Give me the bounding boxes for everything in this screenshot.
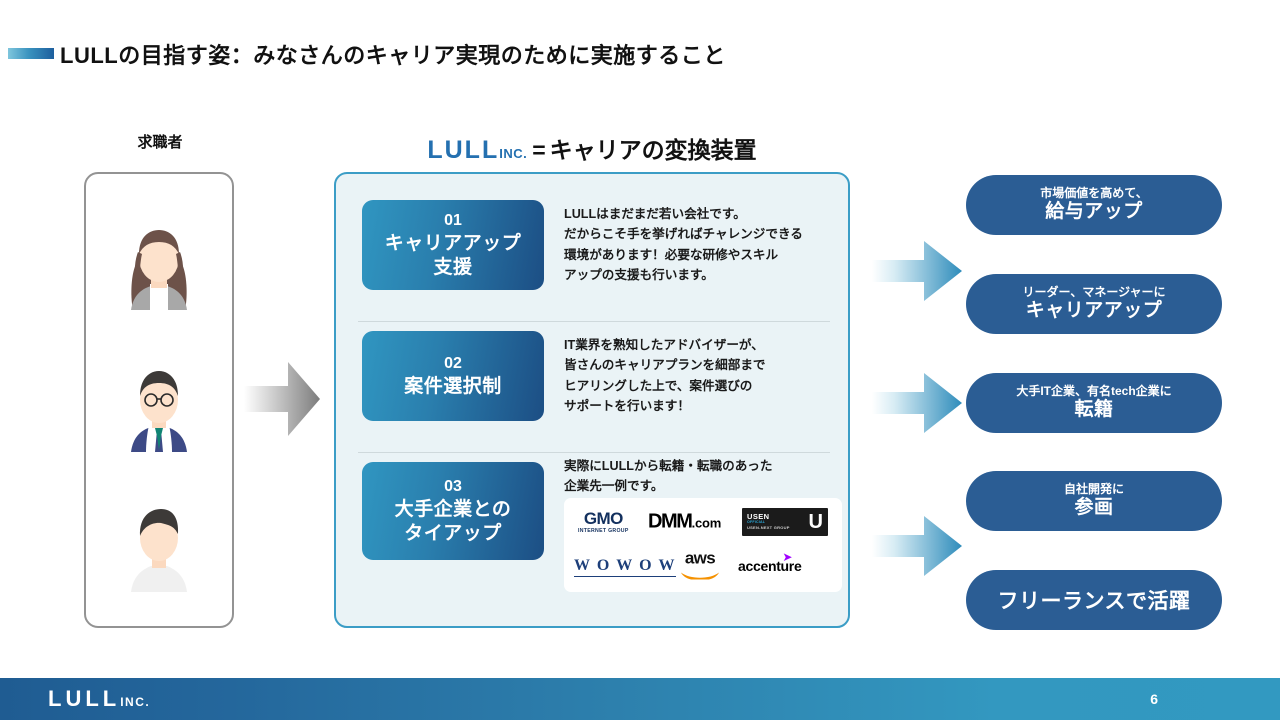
partner-logo-row-2: W O W O W aws ➤ accenture: [564, 543, 842, 590]
arrow-right-blue-1-icon: [872, 238, 962, 304]
aws-logo-icon: aws: [680, 549, 720, 584]
dmm-logo-icon: DMM.com: [648, 510, 721, 533]
center-brand: LULL: [427, 136, 499, 164]
avatar-man-glasses-suit-icon: [111, 352, 207, 472]
job-seeker-box: [84, 172, 234, 628]
feature-description-02: IT業界を熟知したアドバイザーが、 皆さんのキャリアプランを細部まで ヒアリング…: [564, 335, 836, 417]
outcome-pill-4-main: 参画: [1074, 497, 1113, 520]
feature-number-02: 02: [444, 353, 462, 375]
outcome-pill-2[interactable]: リーダー、マネージャーに キャリアアップ: [966, 274, 1222, 334]
arrow-right-blue-3-icon: [872, 513, 962, 579]
outcome-pill-1-main: 給与アップ: [1045, 201, 1143, 224]
gmo-logo-sub: INTERNET GROUP: [578, 528, 629, 534]
outcome-pill-3-main: 転籍: [1074, 399, 1113, 422]
center-phrase: キャリアの変換装置: [550, 137, 757, 163]
outcome-pill-2-sub: リーダー、マネージャーに: [1022, 285, 1165, 300]
outcome-pill-3-sub: 大手IT企業、有名tech企業に: [1016, 384, 1171, 399]
outcome-pill-5-main: フリーランスで活躍: [997, 585, 1190, 615]
partner-logo-row-1: GMO INTERNET GROUP DMM.com USEN OFFICIAL…: [564, 498, 842, 545]
feature-title-03-line1: 大手企業との: [395, 498, 512, 522]
aws-logo-main: aws: [680, 549, 720, 566]
outcome-pill-1[interactable]: 市場価値を高めて、 給与アップ: [966, 175, 1222, 235]
page-number: 6: [1150, 691, 1158, 707]
gmo-logo-icon: GMO INTERNET GROUP: [578, 510, 629, 534]
center-header: LULLINC.=キャリアの変換装置: [334, 131, 850, 165]
feature-title-03-line2: タイアップ: [404, 522, 502, 546]
arrow-right-grey-icon: [244, 358, 320, 440]
accenture-accent-icon: ➤: [782, 550, 792, 564]
avatar-person-short-hair-icon: [111, 492, 207, 612]
outcome-pill-4-sub: 自社開発に: [1064, 482, 1124, 497]
feature-badge-02: 02 案件選択制: [362, 331, 544, 421]
usen-logo-mark: U: [809, 512, 823, 532]
center-brand-suffix: INC.: [499, 146, 527, 161]
title-accent-bar: [8, 48, 54, 59]
page-title: LULLの目指す姿：みなさんのキャリア実現のために実施すること: [60, 38, 726, 70]
outcome-pill-2-main: キャリアアップ: [1026, 300, 1163, 323]
accenture-logo-icon: ➤ accenture: [738, 558, 801, 576]
feature-title-01-line2: 支援: [433, 256, 472, 280]
feature-number-03: 03: [444, 476, 462, 498]
feature-number-01: 01: [444, 210, 462, 232]
outcome-pill-5[interactable]: フリーランスで活躍: [966, 570, 1222, 630]
dmm-logo-sub: .com: [692, 515, 722, 530]
center-panel: 01 キャリアアップ 支援 LULLはまだまだ若い会社です。 だからこそ手を挙げ…: [334, 172, 850, 628]
usen-logo-main: USEN: [747, 513, 790, 521]
feature-description-03: 実際にLULLから転籍・転職のあった 企業先一例です。: [564, 456, 836, 497]
dmm-logo-main: DMM: [648, 510, 692, 532]
aws-smile-icon: [680, 570, 720, 579]
avatar-woman-long-hair-icon: [111, 210, 207, 330]
feature-description-01: LULLはまだまだ若い会社です。 だからこそ手を挙げればチャレンジできる 環境が…: [564, 204, 836, 286]
feature-badge-03: 03 大手企業との タイアップ: [362, 462, 544, 560]
feature-title-02-line1: 案件選択制: [404, 375, 502, 399]
feature-title-01-line1: キャリアアップ: [385, 232, 522, 256]
footer-brand-suffix: INC.: [120, 695, 150, 709]
outcome-pill-4[interactable]: 自社開発に 参画: [966, 471, 1222, 531]
outcome-pill-1-sub: 市場価値を高めて、: [1040, 186, 1147, 201]
slide-root: LULLの目指す姿：みなさんのキャリア実現のために実施すること 求職者: [0, 0, 1280, 720]
outcome-pill-3[interactable]: 大手IT企業、有名tech企業に 転籍: [966, 373, 1222, 433]
partner-logo-strip: GMO INTERNET GROUP DMM.com USEN OFFICIAL…: [564, 498, 842, 592]
wowow-logo-icon: W O W O W: [574, 557, 676, 577]
gmo-logo-main: GMO: [578, 510, 629, 527]
feature-badge-01: 01 キャリアアップ 支援: [362, 200, 544, 290]
feature-row-2: 02 案件選択制 IT業界を熟知したアドバイザーが、 皆さんのキャリアプランを細…: [336, 321, 848, 451]
footer-logo: LULLINC.: [48, 686, 150, 712]
footer-bar: LULLINC. 6: [0, 678, 1280, 720]
usen-logo-group: USEN-NEXT GROUP: [747, 526, 790, 531]
job-seeker-label: 求職者: [86, 131, 234, 152]
arrow-right-blue-2-icon: [872, 370, 962, 436]
feature-row-1: 01 キャリアアップ 支援 LULLはまだまだ若い会社です。 だからこそ手を挙げ…: [336, 190, 848, 320]
feature-row-3: 03 大手企業との タイアップ 実際にLULLから転籍・転職のあった 企業先一例…: [336, 452, 848, 612]
center-equals: =: [532, 137, 545, 163]
usen-logo-icon: USEN OFFICIAL USEN-NEXT GROUP U: [742, 508, 828, 536]
footer-brand: LULL: [48, 686, 120, 711]
